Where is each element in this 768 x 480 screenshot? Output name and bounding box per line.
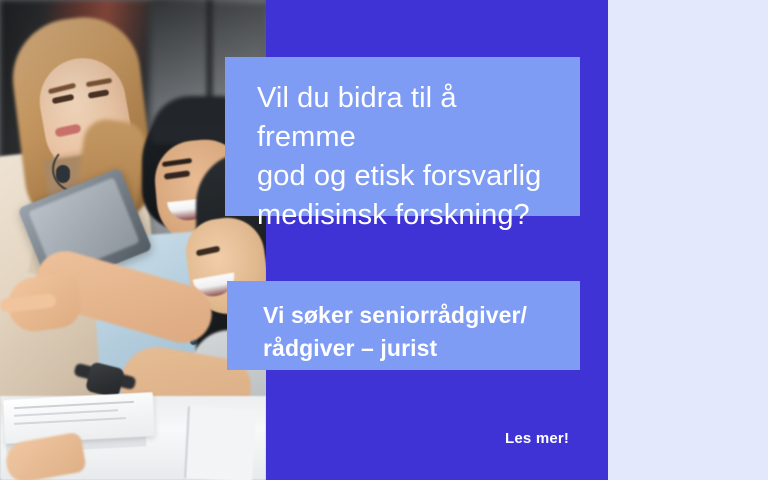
logo-sidebar: REK UNIVERSITAS OSLOENSIS MDCCCXI bbox=[608, 0, 768, 480]
headline-panel: Vil du bidra til å fremme god og etisk f… bbox=[225, 57, 580, 216]
job-title-text: Vi søker seniorrådgiver/ rådgiver – juri… bbox=[263, 299, 550, 365]
headline-text: Vil du bidra til å fremme god og etisk f… bbox=[257, 79, 550, 235]
recruitment-banner: Vil du bidra til å fremme god og etisk f… bbox=[0, 0, 768, 480]
read-more-link[interactable]: Les mer! bbox=[505, 430, 569, 447]
job-title-panel: Vi søker seniorrådgiver/ rådgiver – juri… bbox=[227, 281, 580, 370]
